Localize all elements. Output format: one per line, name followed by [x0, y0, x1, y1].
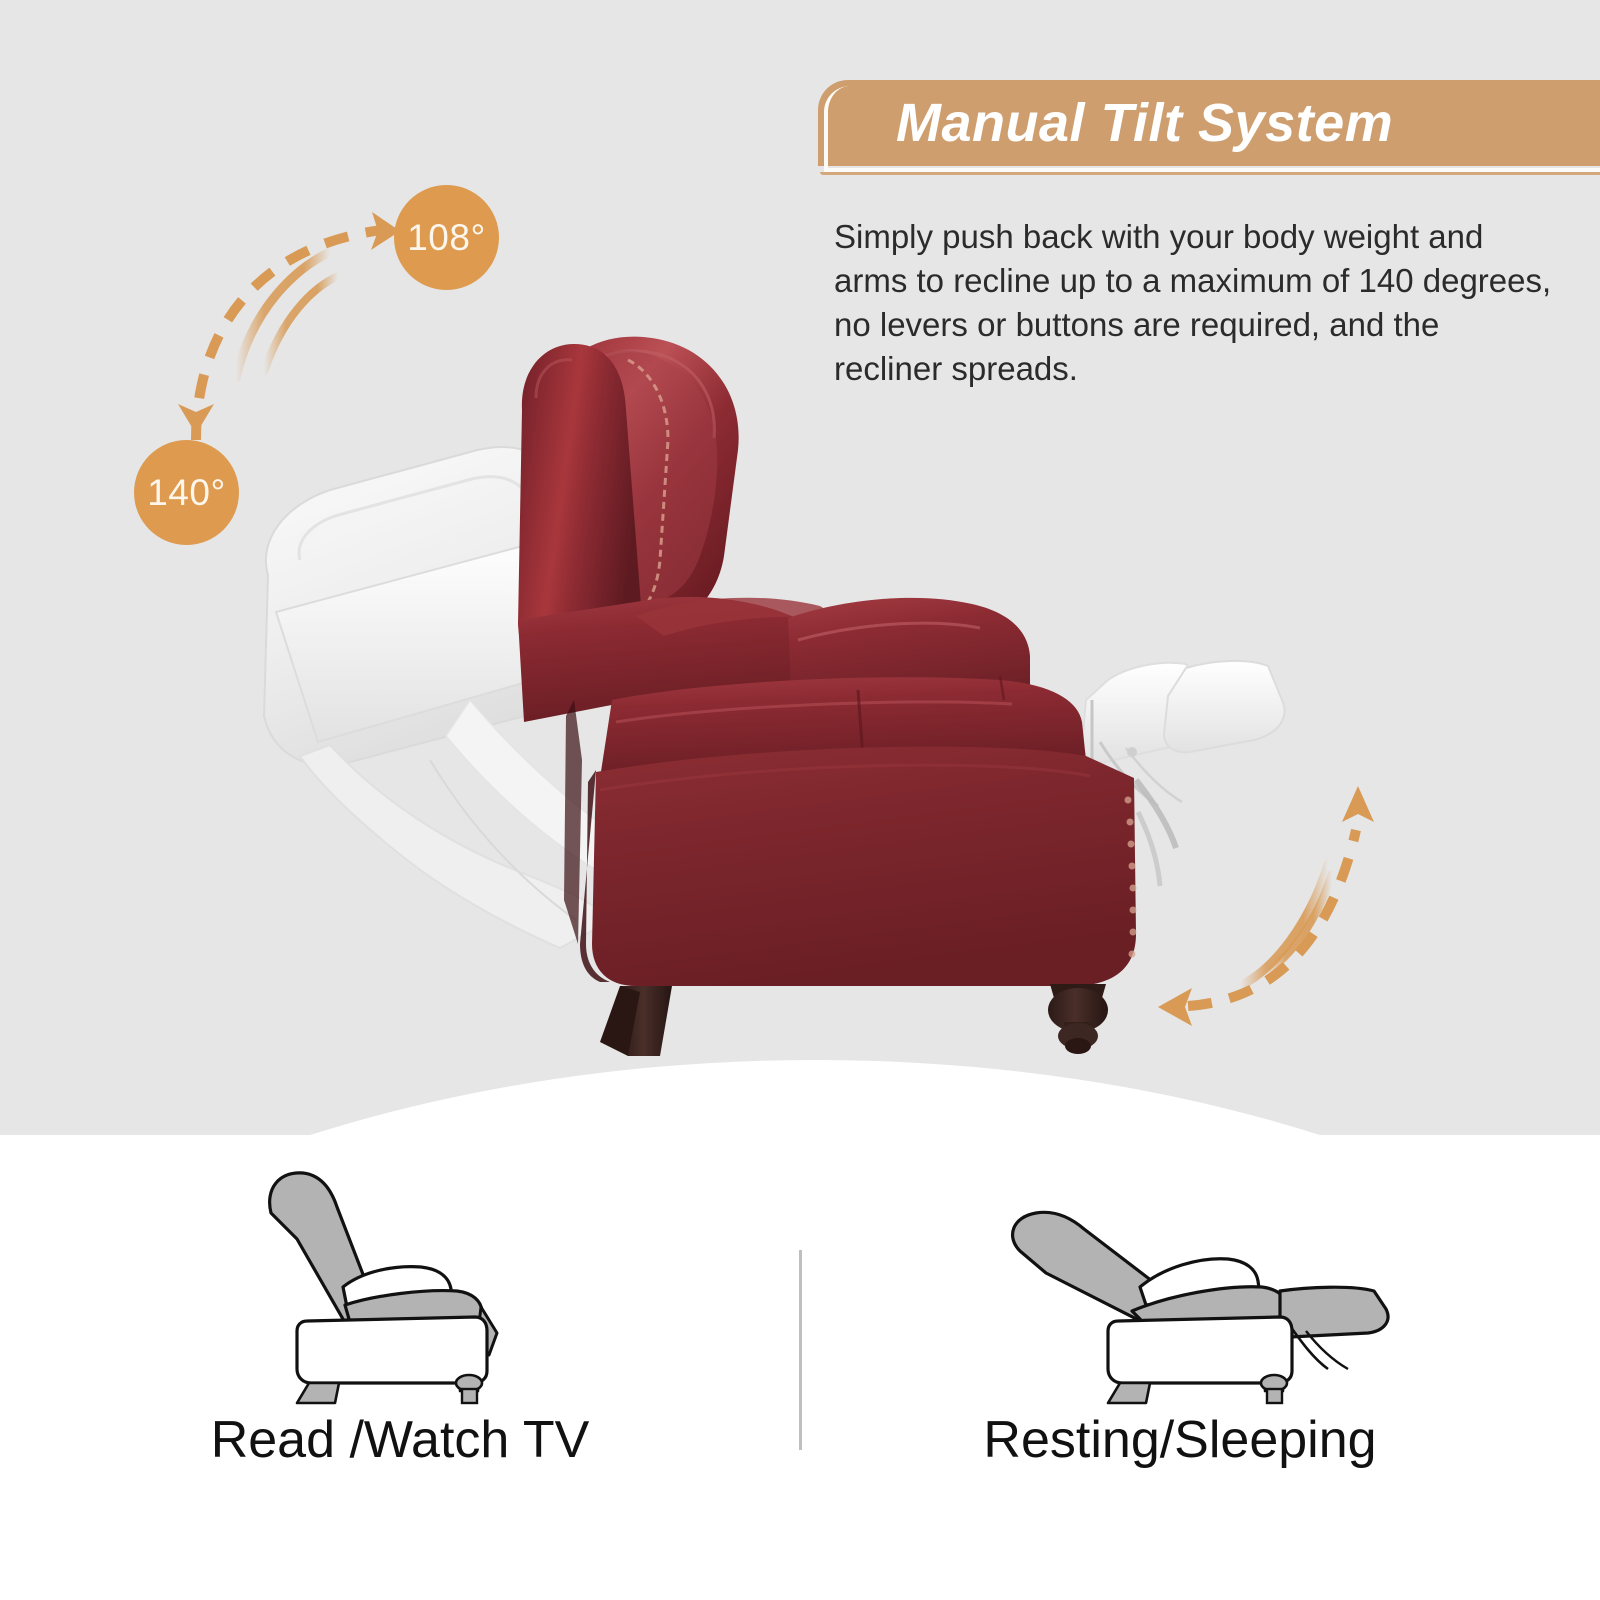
- section-divider-curve: [0, 1060, 1600, 1135]
- recliner-seat-cushion: [600, 598, 1086, 778]
- title-banner: Manual Tilt System: [818, 80, 1600, 178]
- tilt-arc-top: [178, 212, 400, 440]
- recliner-backrest: [518, 337, 812, 722]
- mode-caption-resting-sleeping: Resting/Sleeping: [800, 1410, 1560, 1470]
- tilt-arc-bottom: [1158, 786, 1374, 1026]
- recliner-base: [564, 700, 1137, 986]
- mode-caption-read-watch-tv: Read /Watch TV: [20, 1410, 780, 1470]
- recliner-reclined-icon: [800, 1155, 1560, 1405]
- mode-read-watch-tv: Read /Watch TV: [20, 1135, 780, 1600]
- reclined-angle-badge: 140°: [134, 440, 239, 545]
- hero-panel: 108° 140° Manual Tilt System Simply push…: [0, 0, 1600, 1135]
- recliner-mechanism: [1136, 780, 1176, 886]
- recliner-upright-icon: [20, 1155, 780, 1405]
- page-title: Manual Tilt System: [896, 88, 1393, 158]
- ghost-footrest: [1082, 661, 1284, 810]
- infographic-root: 108° 140° Manual Tilt System Simply push…: [0, 0, 1600, 1600]
- upright-angle-badge: 108°: [394, 185, 499, 290]
- title-banner-outer-line: [820, 172, 1600, 175]
- ghost-reclined-backrest: [264, 447, 640, 948]
- usage-modes-section: Read /Watch TV: [0, 1135, 1600, 1600]
- recliner-legs: [600, 984, 1108, 1056]
- motion-swoosh-bottom: [1240, 864, 1332, 986]
- motion-swoosh-top: [236, 252, 338, 378]
- mode-resting-sleeping: Resting/Sleeping: [800, 1135, 1560, 1600]
- description-text: Simply push back with your body weight a…: [834, 215, 1554, 391]
